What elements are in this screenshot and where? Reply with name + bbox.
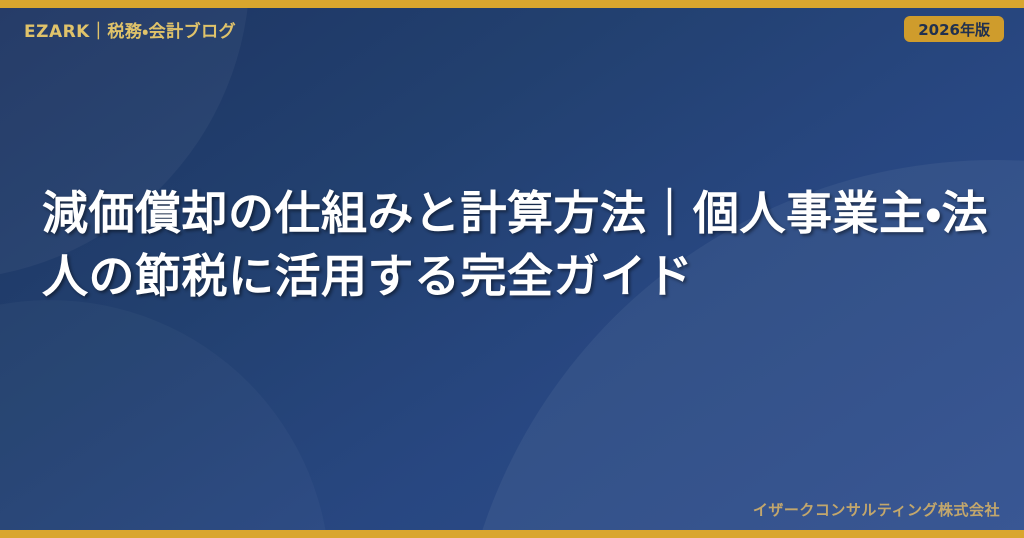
bottom-gold-rule [0, 530, 1024, 538]
page-title-line-1: 減価償却の仕組みと計算方法｜個人事業主・法 [42, 182, 986, 245]
page-title: 減価償却の仕組みと計算方法｜個人事業主・法 人の節税に活用する完全ガイド [42, 182, 986, 309]
company-name: イザークコンサルティング株式会社 [753, 499, 1000, 520]
decorative-circle-lower-left [0, 300, 330, 538]
top-gold-rule [0, 0, 1024, 8]
site-label: EZARK｜税務・会計ブログ [24, 17, 236, 42]
blog-title-banner: EZARK｜税務・会計ブログ 2026年版 減価償却の仕組みと計算方法｜個人事業… [0, 0, 1024, 538]
page-title-line-2: 人の節税に活用する完全ガイド [42, 245, 986, 308]
year-badge: 2026年版 [904, 16, 1004, 42]
